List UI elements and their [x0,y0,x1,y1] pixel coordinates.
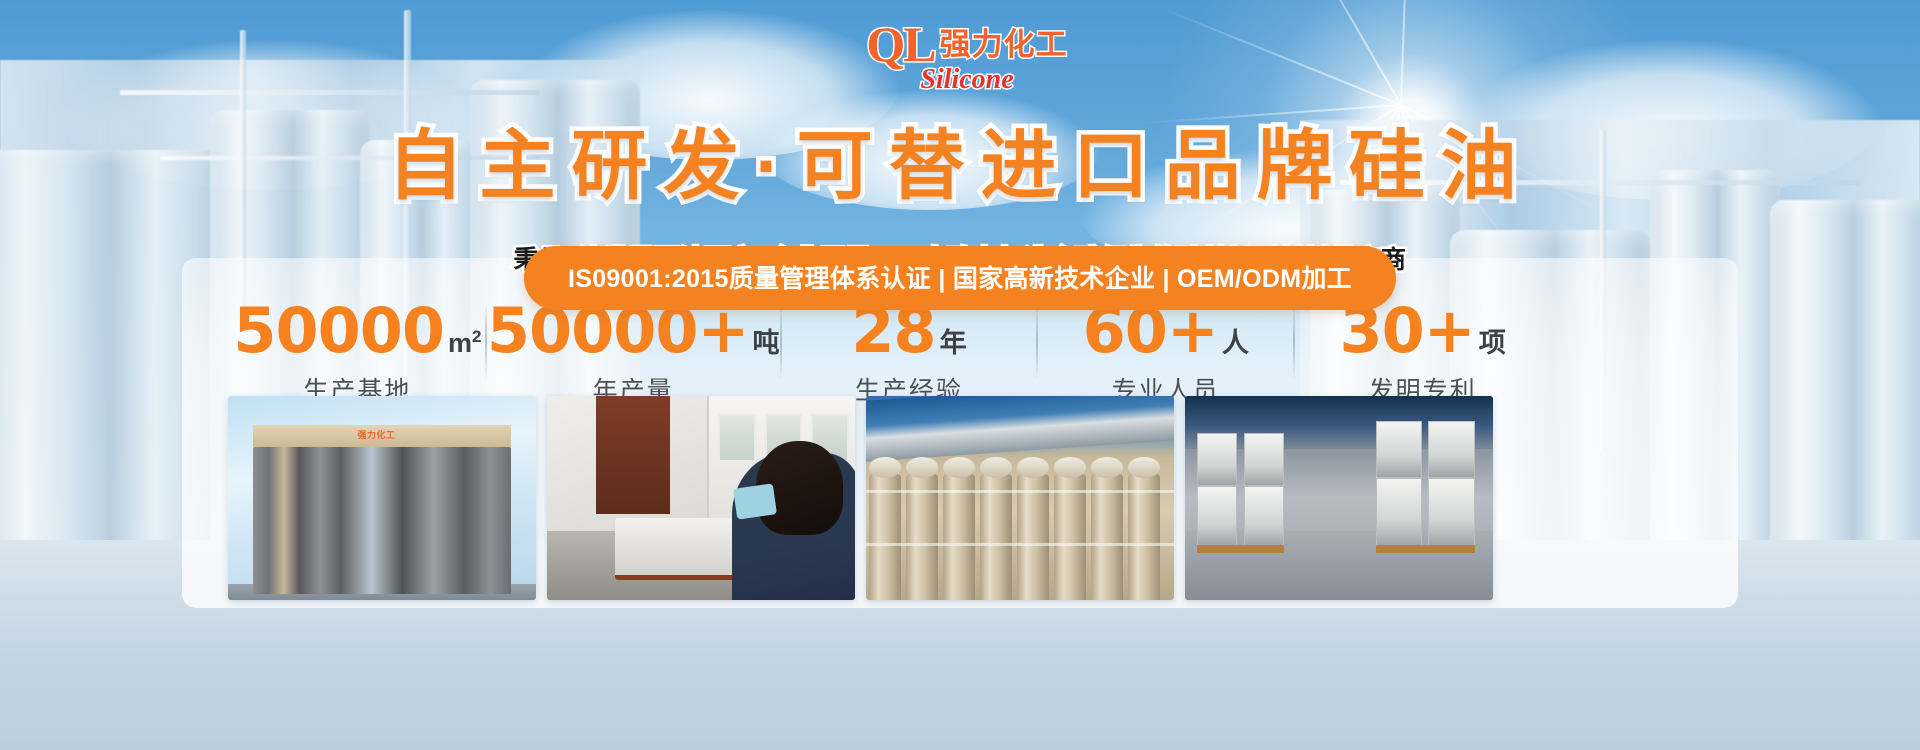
stat-unit: m2 [448,328,481,357]
page-title: 自主研发·可替进口品牌硅油 [0,104,1920,214]
stat-item-experience: 28 年 生产经验 [782,300,1037,407]
photo-gallery: 强力化工 [228,396,1493,600]
laboratory-testing-photo[interactable] [547,396,855,600]
stat-unit: 人 [1222,328,1249,357]
photo-roofline [866,396,1174,462]
logo-initials: QL [866,19,934,69]
stat-unit: 年 [940,328,967,357]
stat-item-annual-output: 50000+ 吨 年产量 [487,300,780,407]
stat-value-row: 50000 m2 [230,300,485,362]
photo-door [596,396,670,514]
certification-badge: IS09001:2015质量管理体系认证 | 国家高新技术企业 | OEM/OD… [524,246,1396,310]
stats-row: 50000 m2 生产基地 50000+ 吨 年产量 28 年 生产经验 60+ [230,300,1550,392]
hero-banner: QL 强力化工 Silicone 自主研发·可替进口品牌硅油 秉承“让世界因油而… [0,0,1920,750]
company-logo[interactable]: QL 强力化工 Silicone [862,18,1072,110]
logo-wordmark-row: QL 强力化工 [862,18,1072,70]
reactor-tanks-photo[interactable] [866,396,1174,600]
logo-name-cn: 强力化工 [940,29,1068,60]
photo-instrument [615,518,738,579]
photo-technician-mask [733,483,777,519]
photo-building [253,447,512,594]
photo-building-logo: 强力化工 [357,428,395,441]
office-building-photo[interactable]: 强力化工 [228,396,536,600]
stat-unit: 项 [1479,328,1506,357]
stat-value: 50000 [233,300,444,362]
stat-item-staff: 60+ 人 专业人员 [1038,300,1293,407]
stat-item-production-base: 50000 m2 生产基地 [230,300,485,407]
warehouse-storage-photo[interactable] [1185,396,1493,600]
stat-item-patents: 30+ 项 发明专利 [1295,300,1550,407]
stat-unit: 吨 [753,328,780,357]
